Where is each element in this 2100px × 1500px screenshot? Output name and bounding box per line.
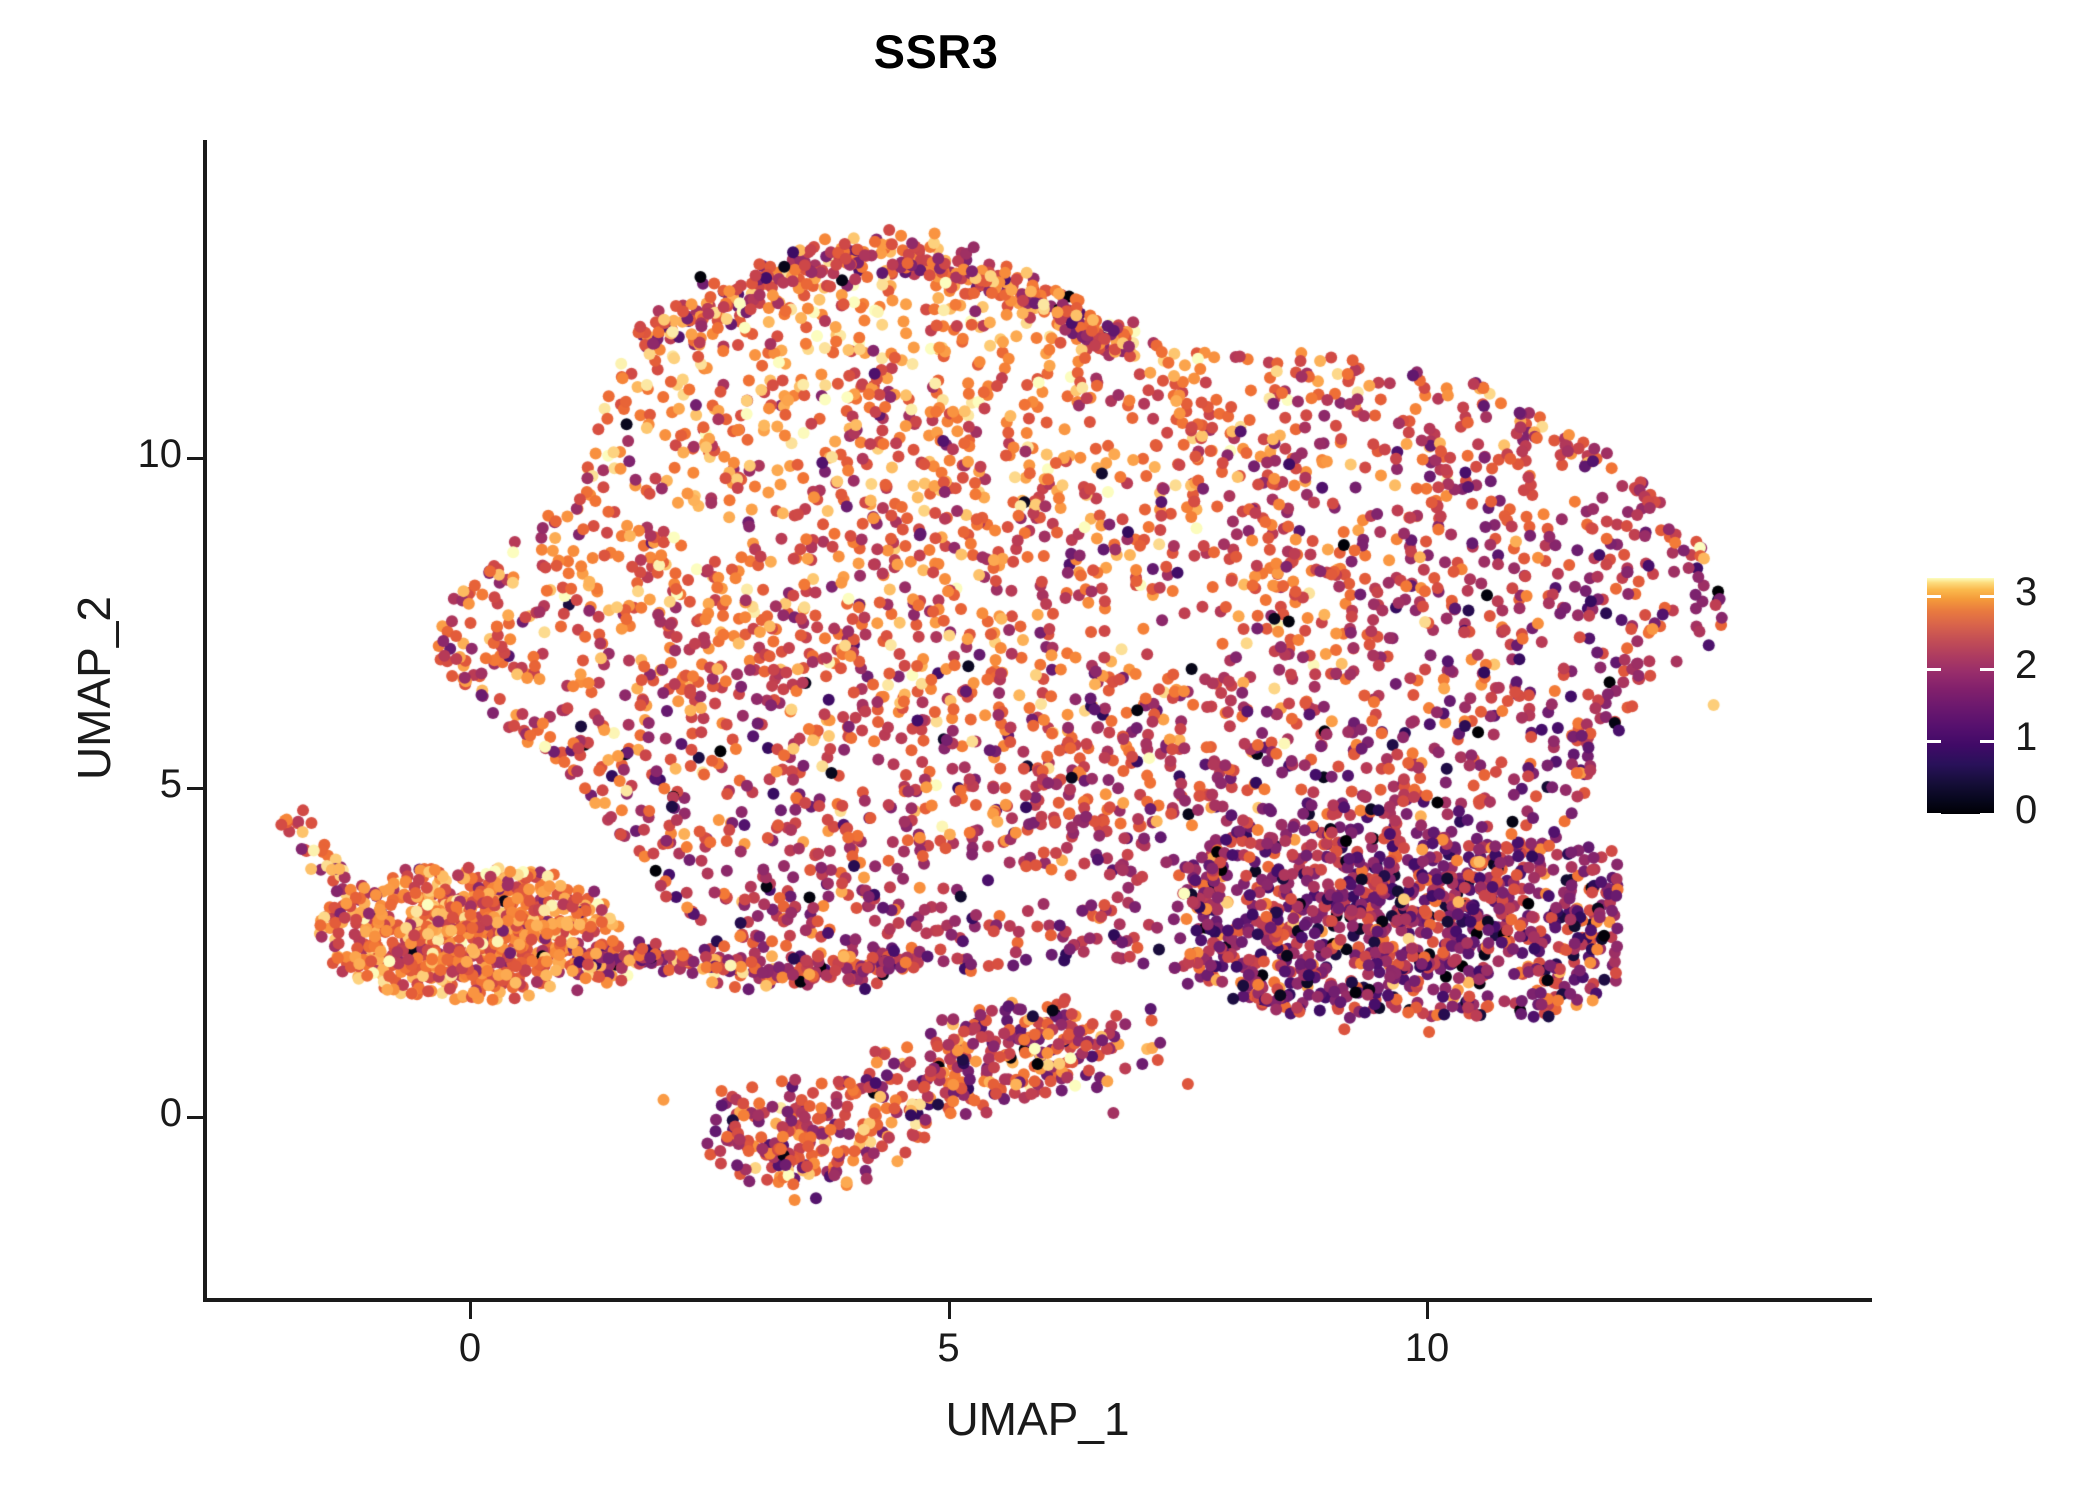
colorbar-tick-mark xyxy=(1927,740,1941,743)
colorbar-tick-label: 2 xyxy=(2015,643,2037,688)
y-tick-mark xyxy=(187,1116,204,1119)
colorbar-tick-label: 0 xyxy=(2015,788,2037,833)
page-title: SSR3 xyxy=(0,24,1872,79)
colorbar-tick-mark xyxy=(1980,595,1994,598)
x-tick-mark xyxy=(1426,1302,1429,1319)
x-tick-label: 10 xyxy=(1347,1326,1507,1371)
colorbar-tick-mark xyxy=(1980,668,1994,671)
colorbar-tick-mark xyxy=(1927,813,1941,816)
x-axis-line xyxy=(203,1298,1872,1302)
colorbar-tick-mark xyxy=(1980,740,1994,743)
colorbar-tick-mark xyxy=(1927,595,1941,598)
figure-root: SSR3 05100510 UMAP_1 UMAP_2 0123 xyxy=(0,0,2100,1500)
plot-panel xyxy=(206,140,1872,1300)
colorbar-tick-label: 1 xyxy=(2015,715,2037,760)
colorbar-gradient xyxy=(1927,578,1994,814)
y-axis-title: UMAP_2 xyxy=(67,308,121,1068)
x-axis-title: UMAP_1 xyxy=(203,1392,1872,1446)
y-tick-label: 0 xyxy=(0,1091,182,1136)
colorbar-tick-mark xyxy=(1927,668,1941,671)
colorbar-legend: 0123 xyxy=(1927,578,2087,814)
scatter-canvas xyxy=(206,140,1872,1300)
colorbar-tick-mark xyxy=(1980,813,1994,816)
y-tick-mark xyxy=(187,787,204,790)
y-tick-mark xyxy=(187,457,204,460)
x-tick-label: 5 xyxy=(869,1326,1029,1371)
x-tick-mark xyxy=(948,1302,951,1319)
colorbar-tick-label: 3 xyxy=(2015,570,2037,615)
x-tick-label: 0 xyxy=(390,1326,550,1371)
x-tick-mark xyxy=(469,1302,472,1319)
y-axis-line xyxy=(203,140,207,1302)
